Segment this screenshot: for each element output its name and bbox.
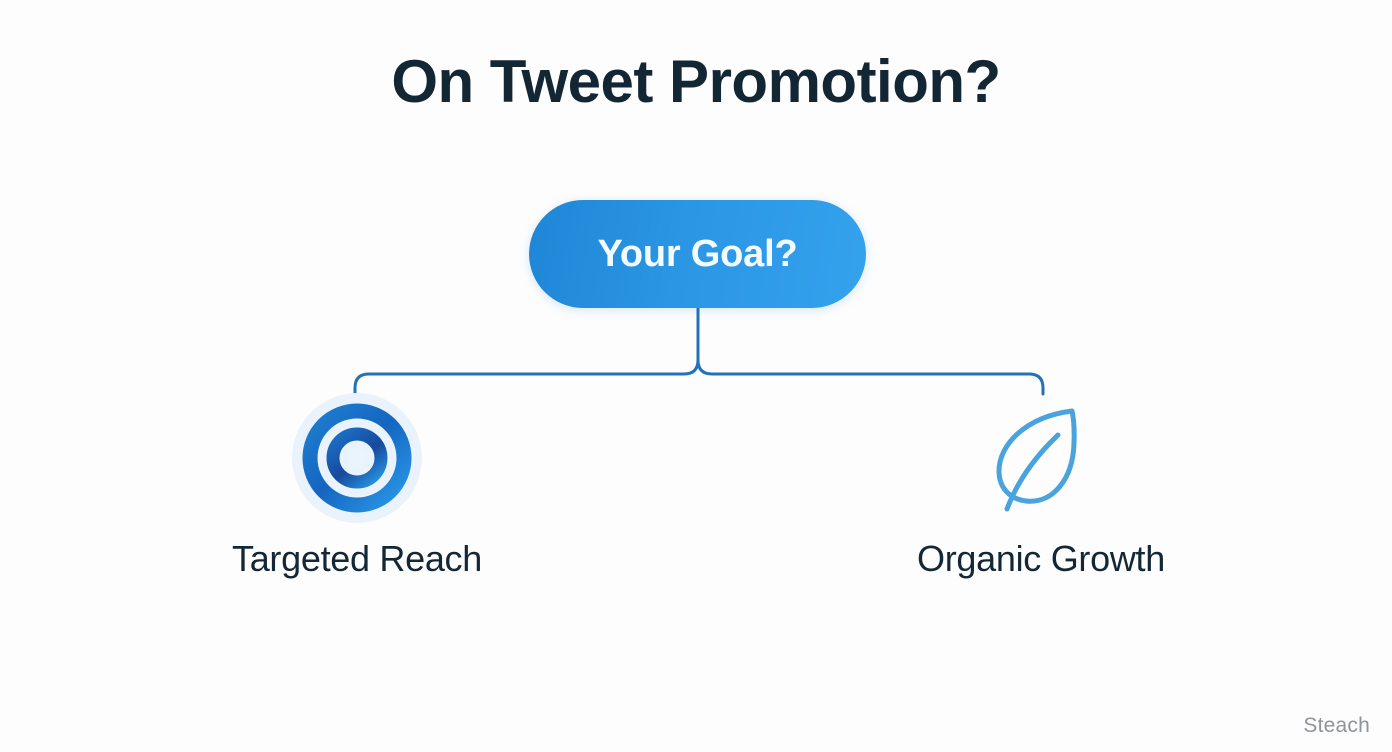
branch-organic-growth[interactable]: Organic Growth xyxy=(871,385,1211,580)
leaf-icon xyxy=(981,391,1101,525)
branch-targeted-reach[interactable]: Targeted Reach xyxy=(187,385,527,580)
watermark: Steach xyxy=(1303,714,1370,738)
root-node-your-goal[interactable]: Your Goal? xyxy=(529,200,866,308)
branch-icon-wrapper xyxy=(187,385,527,530)
target-bullseye xyxy=(347,448,367,468)
root-node-label: Your Goal? xyxy=(598,233,798,276)
branch-label-organic-growth: Organic Growth xyxy=(871,538,1211,580)
branch-label-targeted-reach: Targeted Reach xyxy=(187,538,527,580)
page-title: On Tweet Promotion? xyxy=(0,50,1392,115)
branch-icon-wrapper xyxy=(871,385,1211,530)
target-icon xyxy=(290,391,424,525)
slide-canvas: On Tweet Promotion? Your Goal? xyxy=(0,0,1392,752)
